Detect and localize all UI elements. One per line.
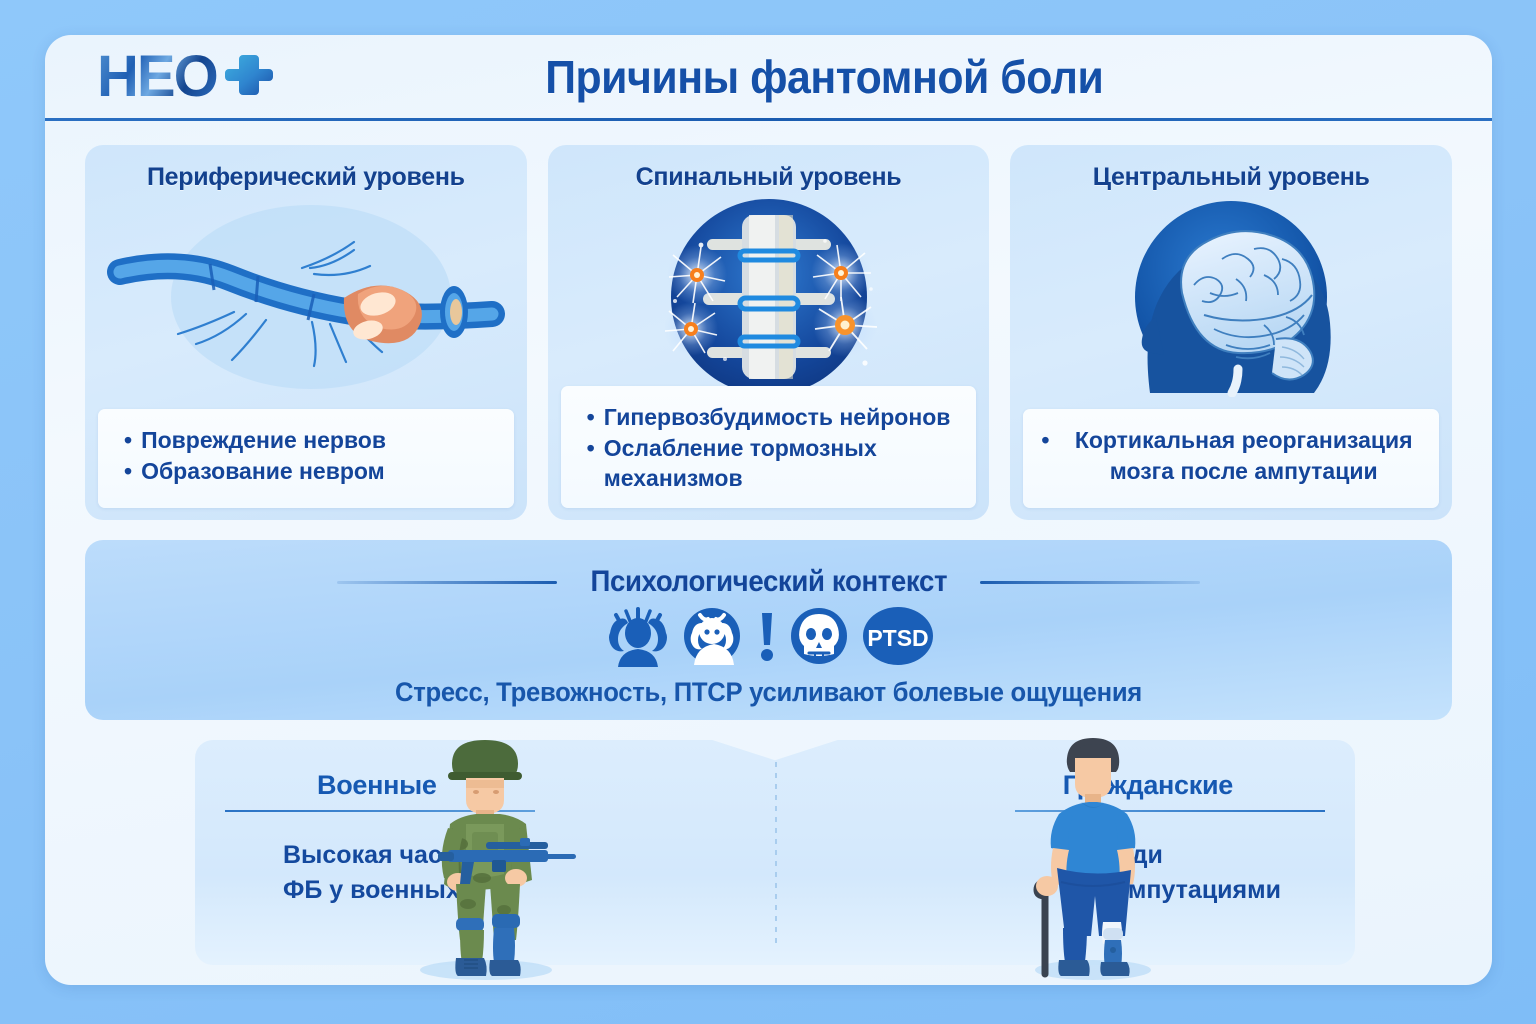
bullet-marker: • [1041, 425, 1049, 486]
anxious-person-icon [684, 605, 746, 672]
level-bullets: • Повреждение нервов • Образование невро… [98, 409, 514, 508]
damaged-nerve-illustration [85, 197, 527, 397]
bullet-item: • Кортикальная реорганизация мозга после… [1041, 425, 1429, 486]
levels-row: Периферический уровень [85, 145, 1452, 520]
page-title: Причины фантомной боли [96, 50, 1442, 104]
level-title: Периферический уровень [85, 145, 527, 192]
ptsd-badge-icon: PTSD [862, 605, 934, 672]
bullet-item: • Ослабление тормозных механизмов [587, 433, 967, 494]
level-bullets: • Гипервозбудимость нейронов • Ослаблени… [561, 386, 977, 508]
spine-neurons-illustration [548, 197, 990, 397]
heading-rule-right [980, 581, 1200, 584]
exclamation-icon [758, 607, 776, 670]
bullet-marker: • [124, 456, 132, 487]
bullet-item: • Образование невром [124, 456, 504, 487]
bullet-text: Гипервозбудимость нейронов [604, 402, 951, 433]
ptsd-label: PTSD [867, 625, 928, 651]
skull-icon [788, 605, 850, 672]
civilian-amputee-figure [1017, 732, 1167, 985]
bullet-marker: • [587, 433, 595, 494]
stressed-person-icon [604, 605, 672, 672]
psychological-context-panel: Психологический контекст [85, 540, 1452, 720]
infographic-page: НЕО Причины фантомной боли [45, 35, 1492, 985]
bullet-text: Ослабление тормозных механизмов [604, 433, 967, 494]
groups-section: Военные Высокая частота ФБ у военных Гра… [195, 740, 1355, 965]
bullet-marker: • [124, 425, 132, 456]
header: НЕО Причины фантомной боли [45, 35, 1492, 118]
heading-rule-left [337, 581, 557, 584]
level-title: Спинальный уровень [548, 145, 990, 192]
bullet-text: Повреждение нервов [141, 425, 386, 456]
level-card-central: Центральный уровень [1010, 145, 1452, 520]
psych-title: Психологический контекст [590, 565, 947, 599]
bullet-item: • Повреждение нервов [124, 425, 504, 456]
header-divider [45, 118, 1492, 121]
bullet-text: Образование невром [141, 456, 385, 487]
level-title: Центральный уровень [1010, 145, 1452, 192]
bullet-marker: • [587, 402, 595, 433]
level-card-spinal: Спинальный уровень [548, 145, 990, 520]
psych-icons-row: PTSD [85, 607, 1452, 669]
brain-head-illustration [1010, 197, 1452, 397]
psych-caption: Стресс, Тревожность, ПТСР усиливают боле… [119, 677, 1418, 708]
soldier-figure [390, 732, 580, 985]
bullet-text: Кортикальная реорганизация мозга после а… [1058, 425, 1429, 486]
level-card-peripheral: Периферический уровень [85, 145, 527, 520]
level-bullets: • Кортикальная реорганизация мозга после… [1023, 409, 1439, 508]
bullet-item: • Гипервозбудимость нейронов [587, 402, 967, 433]
psych-heading-row: Психологический контекст [85, 540, 1452, 599]
